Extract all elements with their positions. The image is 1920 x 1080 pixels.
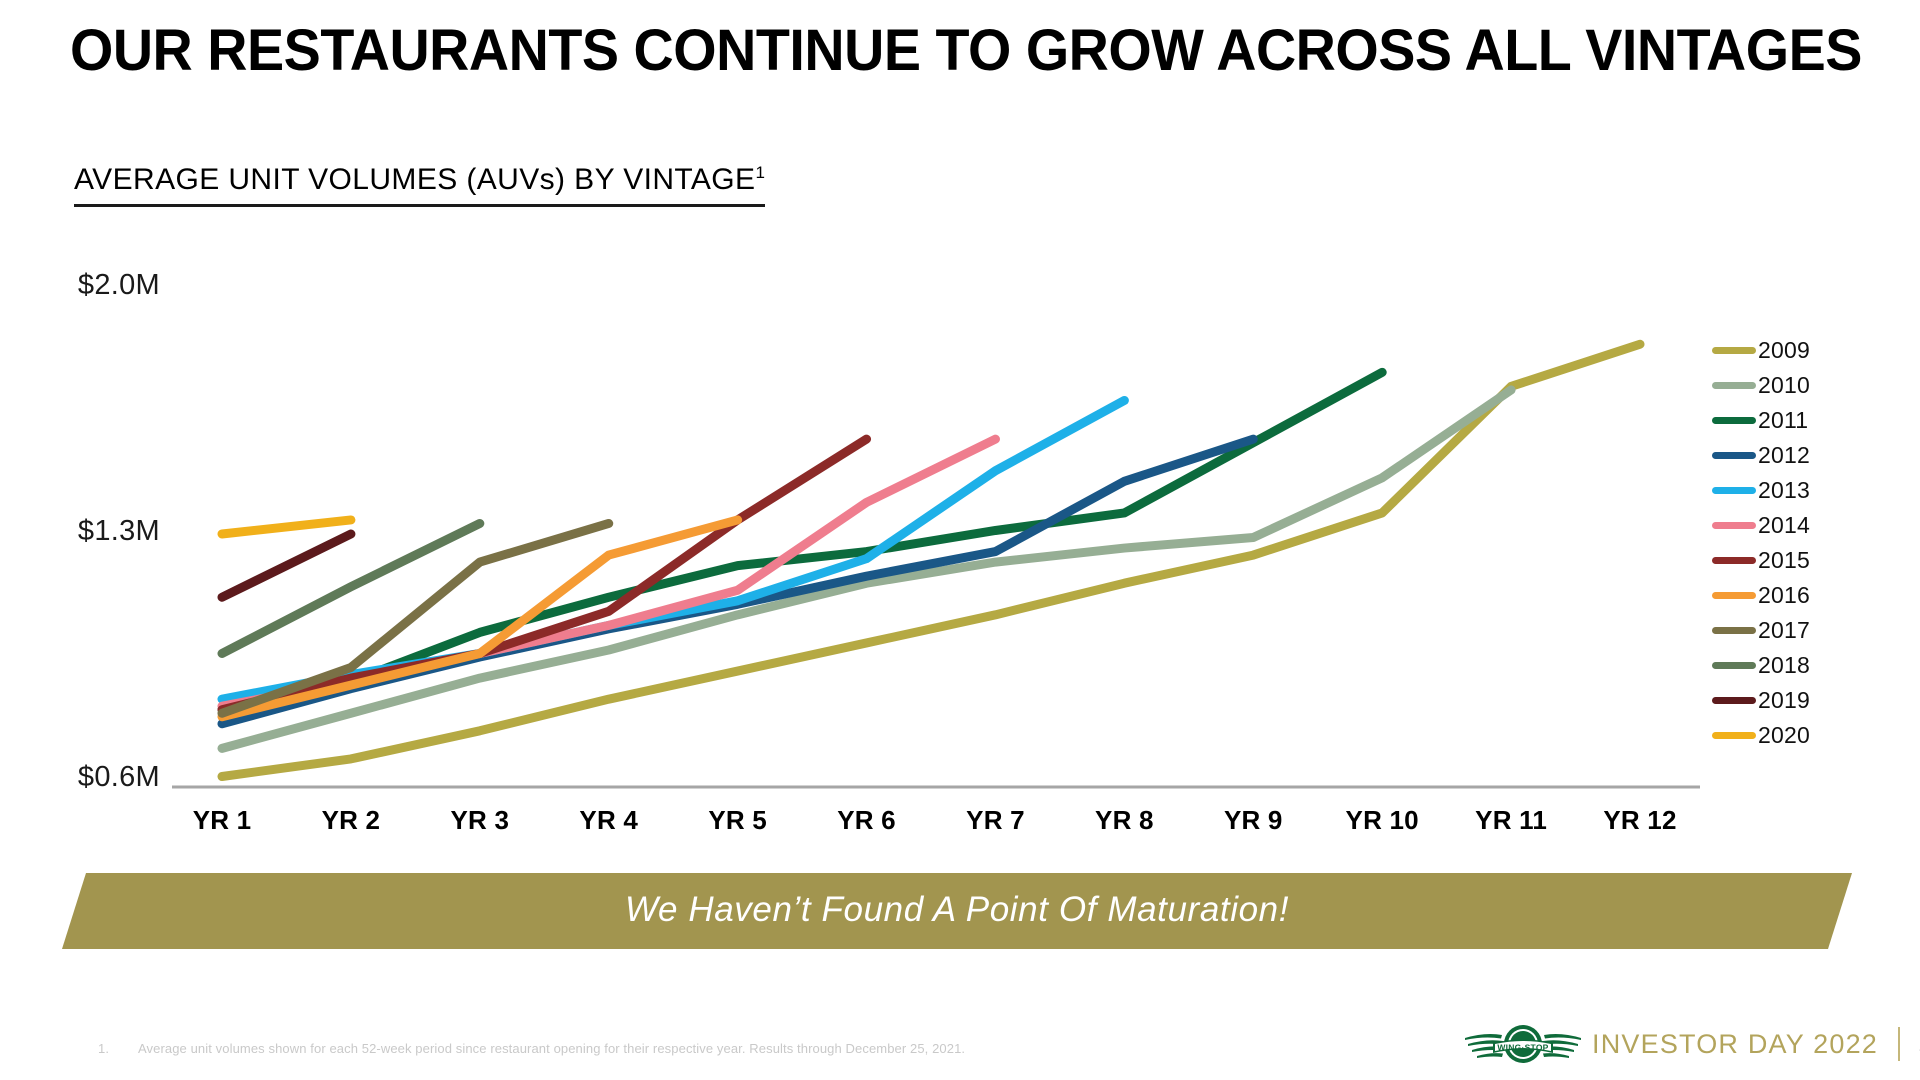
series-line-2009	[222, 344, 1640, 776]
footnote-text: Average unit volumes shown for each 52-w…	[138, 1041, 965, 1056]
wingstop-logo: WING·STOP	[1464, 1016, 1582, 1072]
legend-item-2013[interactable]: 2013	[1712, 473, 1902, 508]
x-axis-tick-yr9: YR 9	[1224, 805, 1283, 836]
callout-banner: We Haven’t Found A Point Of Maturation!	[62, 873, 1852, 949]
series-line-2011	[222, 372, 1382, 709]
series-line-2013	[222, 400, 1124, 699]
series-line-2019	[222, 534, 351, 597]
x-axis-tick-yr12: YR 12	[1603, 805, 1676, 836]
series-line-2017	[222, 523, 609, 713]
legend-item-2019[interactable]: 2019	[1712, 683, 1902, 718]
legend-label-2014: 2014	[1758, 512, 1810, 539]
legend-swatch-2015	[1712, 557, 1756, 564]
legend-item-2017[interactable]: 2017	[1712, 613, 1902, 648]
legend-item-2009[interactable]: 2009	[1712, 333, 1902, 368]
x-axis-tick-yr1: YR 1	[193, 805, 252, 836]
footnote-number: 1.	[98, 1041, 138, 1056]
legend-label-2016: 2016	[1758, 582, 1810, 609]
legend-label-2011: 2011	[1758, 407, 1808, 434]
callout-banner-text: We Haven’t Found A Point Of Maturation!	[62, 890, 1852, 930]
series-line-2012	[222, 439, 1253, 724]
x-axis-tick-yr7: YR 7	[966, 805, 1025, 836]
legend-swatch-2011	[1712, 417, 1756, 424]
x-axis-tick-yr5: YR 5	[708, 805, 767, 836]
legend-item-2010[interactable]: 2010	[1712, 368, 1902, 403]
legend-item-2012[interactable]: 2012	[1712, 438, 1902, 473]
investor-day-label: INVESTOR DAY 2022	[1592, 1029, 1878, 1060]
x-axis-tick-yr8: YR 8	[1095, 805, 1154, 836]
legend-label-2013: 2013	[1758, 477, 1810, 504]
page-title: OUR RESTAURANTS CONTINUE TO GROW ACROSS …	[70, 20, 1862, 82]
series-line-2010	[222, 390, 1511, 748]
x-axis-tick-yr10: YR 10	[1346, 805, 1419, 836]
legend-swatch-2019	[1712, 697, 1756, 704]
legend-swatch-2010	[1712, 382, 1756, 389]
legend-swatch-2018	[1712, 662, 1756, 669]
series-line-2015	[222, 439, 867, 710]
legend-swatch-2013	[1712, 487, 1756, 494]
legend-swatch-2012	[1712, 452, 1756, 459]
legend-item-2014[interactable]: 2014	[1712, 508, 1902, 543]
series-group	[222, 344, 1640, 776]
x-axis-tick-yr3: YR 3	[451, 805, 510, 836]
series-line-2016	[222, 520, 738, 717]
x-axis-tick-yr11: YR 11	[1475, 805, 1547, 836]
y-axis-tick-06M: $0.6M	[40, 761, 160, 794]
legend-swatch-2020	[1712, 732, 1756, 739]
legend-swatch-2016	[1712, 592, 1756, 599]
chart-subtitle-text: AVERAGE UNIT VOLUMES (AUVs) BY VINTAGE	[74, 163, 755, 196]
footnote: 1.Average unit volumes shown for each 52…	[98, 1041, 965, 1056]
legend-item-2015[interactable]: 2015	[1712, 543, 1902, 578]
chart-subtitle-footnote-marker: 1	[755, 163, 765, 182]
legend-item-2020[interactable]: 2020	[1712, 718, 1902, 753]
chart-subtitle: AVERAGE UNIT VOLUMES (AUVs) BY VINTAGE1	[74, 163, 765, 207]
legend-label-2018: 2018	[1758, 652, 1810, 679]
x-axis-tick-yr2: YR 2	[322, 805, 381, 836]
legend-item-2018[interactable]: 2018	[1712, 648, 1902, 683]
chart-legend: 2009201020112012201320142015201620172018…	[1712, 333, 1902, 753]
svg-text:WING·STOP: WING·STOP	[1497, 1043, 1548, 1053]
series-line-2014	[222, 439, 995, 706]
legend-label-2019: 2019	[1758, 687, 1810, 714]
legend-label-2015: 2015	[1758, 547, 1810, 574]
legend-label-2020: 2020	[1758, 722, 1810, 749]
legend-swatch-2017	[1712, 627, 1756, 634]
legend-item-2016[interactable]: 2016	[1712, 578, 1902, 613]
x-axis-tick-yr6: YR 6	[837, 805, 896, 836]
y-axis-tick-13M: $1.3M	[40, 515, 160, 548]
series-line-2020	[222, 520, 351, 534]
legend-item-2011[interactable]: 2011	[1712, 403, 1902, 438]
legend-swatch-2009	[1712, 347, 1756, 354]
series-line-2018	[222, 523, 480, 653]
legend-swatch-2014	[1712, 522, 1756, 529]
x-axis-tick-yr4: YR 4	[579, 805, 638, 836]
legend-label-2017: 2017	[1758, 617, 1810, 644]
legend-label-2010: 2010	[1758, 372, 1810, 399]
brand-separator	[1898, 1027, 1900, 1061]
brand-footer: WING·STOP INVESTOR DAY 2022 10	[1464, 1016, 1920, 1072]
y-axis-tick-20M: $2.0M	[40, 269, 160, 302]
legend-label-2009: 2009	[1758, 337, 1810, 364]
legend-label-2012: 2012	[1758, 442, 1810, 469]
